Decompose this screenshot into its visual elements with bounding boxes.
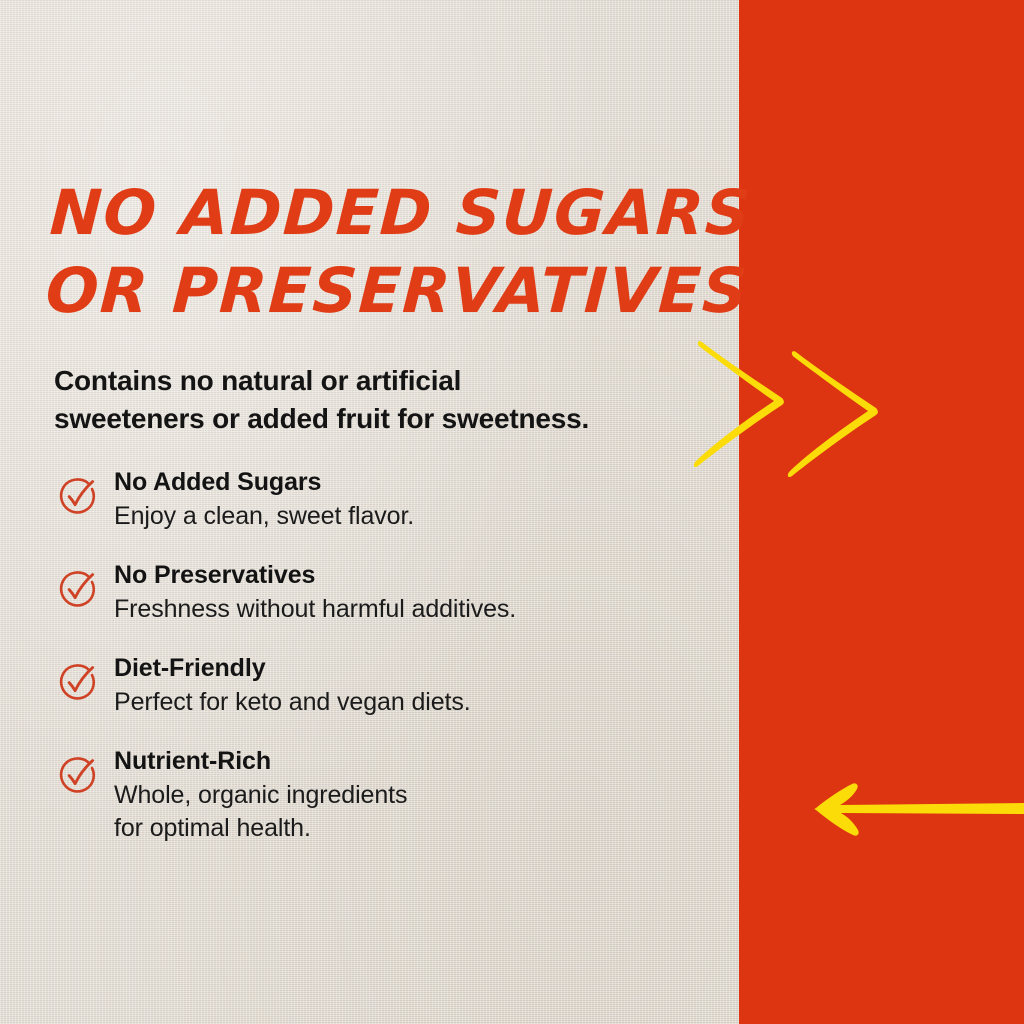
list-item: Diet-Friendly Perfect for keto and vegan… bbox=[52, 652, 712, 719]
feature-description: Perfect for keto and vegan diets. bbox=[114, 686, 712, 719]
feature-title: Nutrient-Rich bbox=[114, 745, 712, 777]
headline-line-1: No Added Sugars bbox=[48, 176, 712, 250]
feature-description-line-1: Whole, organic ingredients bbox=[114, 779, 712, 812]
check-circle-icon bbox=[56, 660, 102, 706]
list-item: No Added Sugars Enjoy a clean, sweet fla… bbox=[52, 466, 712, 533]
headline-line-2: or Preservatives bbox=[44, 254, 708, 328]
subtitle-line-1: Contains no natural or artificial bbox=[54, 362, 694, 400]
feature-title: Diet-Friendly bbox=[114, 652, 712, 684]
subtitle-line-2: sweeteners or added fruit for sweetness. bbox=[54, 400, 694, 438]
check-circle-icon bbox=[56, 567, 102, 613]
subtitle: Contains no natural or artificial sweete… bbox=[54, 362, 694, 438]
list-item: Nutrient-Rich Whole, organic ingredients… bbox=[52, 745, 712, 845]
content-column: No Added Sugars or Preservatives Contain… bbox=[52, 0, 732, 1024]
promo-graphic: No Added Sugars or Preservatives Contain… bbox=[0, 0, 1024, 1024]
feature-description-line-1: Enjoy a clean, sweet flavor. bbox=[114, 500, 712, 533]
feature-description: Enjoy a clean, sweet flavor. bbox=[114, 500, 712, 533]
feature-description-line-2: for optimal health. bbox=[114, 812, 712, 845]
check-circle-icon bbox=[56, 753, 102, 799]
feature-description: Whole, organic ingredients for optimal h… bbox=[114, 779, 712, 845]
page-title: No Added Sugars or Preservatives bbox=[44, 176, 712, 328]
feature-description-line-1: Perfect for keto and vegan diets. bbox=[114, 686, 712, 719]
feature-title: No Added Sugars bbox=[114, 466, 712, 498]
list-item: No Preservatives Freshness without harmf… bbox=[52, 559, 712, 626]
feature-title: No Preservatives bbox=[114, 559, 712, 591]
feature-list: No Added Sugars Enjoy a clean, sweet fla… bbox=[52, 466, 712, 845]
feature-description: Freshness without harmful additives. bbox=[114, 593, 712, 626]
red-accent-panel bbox=[739, 0, 1024, 1024]
feature-description-line-1: Freshness without harmful additives. bbox=[114, 593, 712, 626]
check-circle-icon bbox=[56, 474, 102, 520]
